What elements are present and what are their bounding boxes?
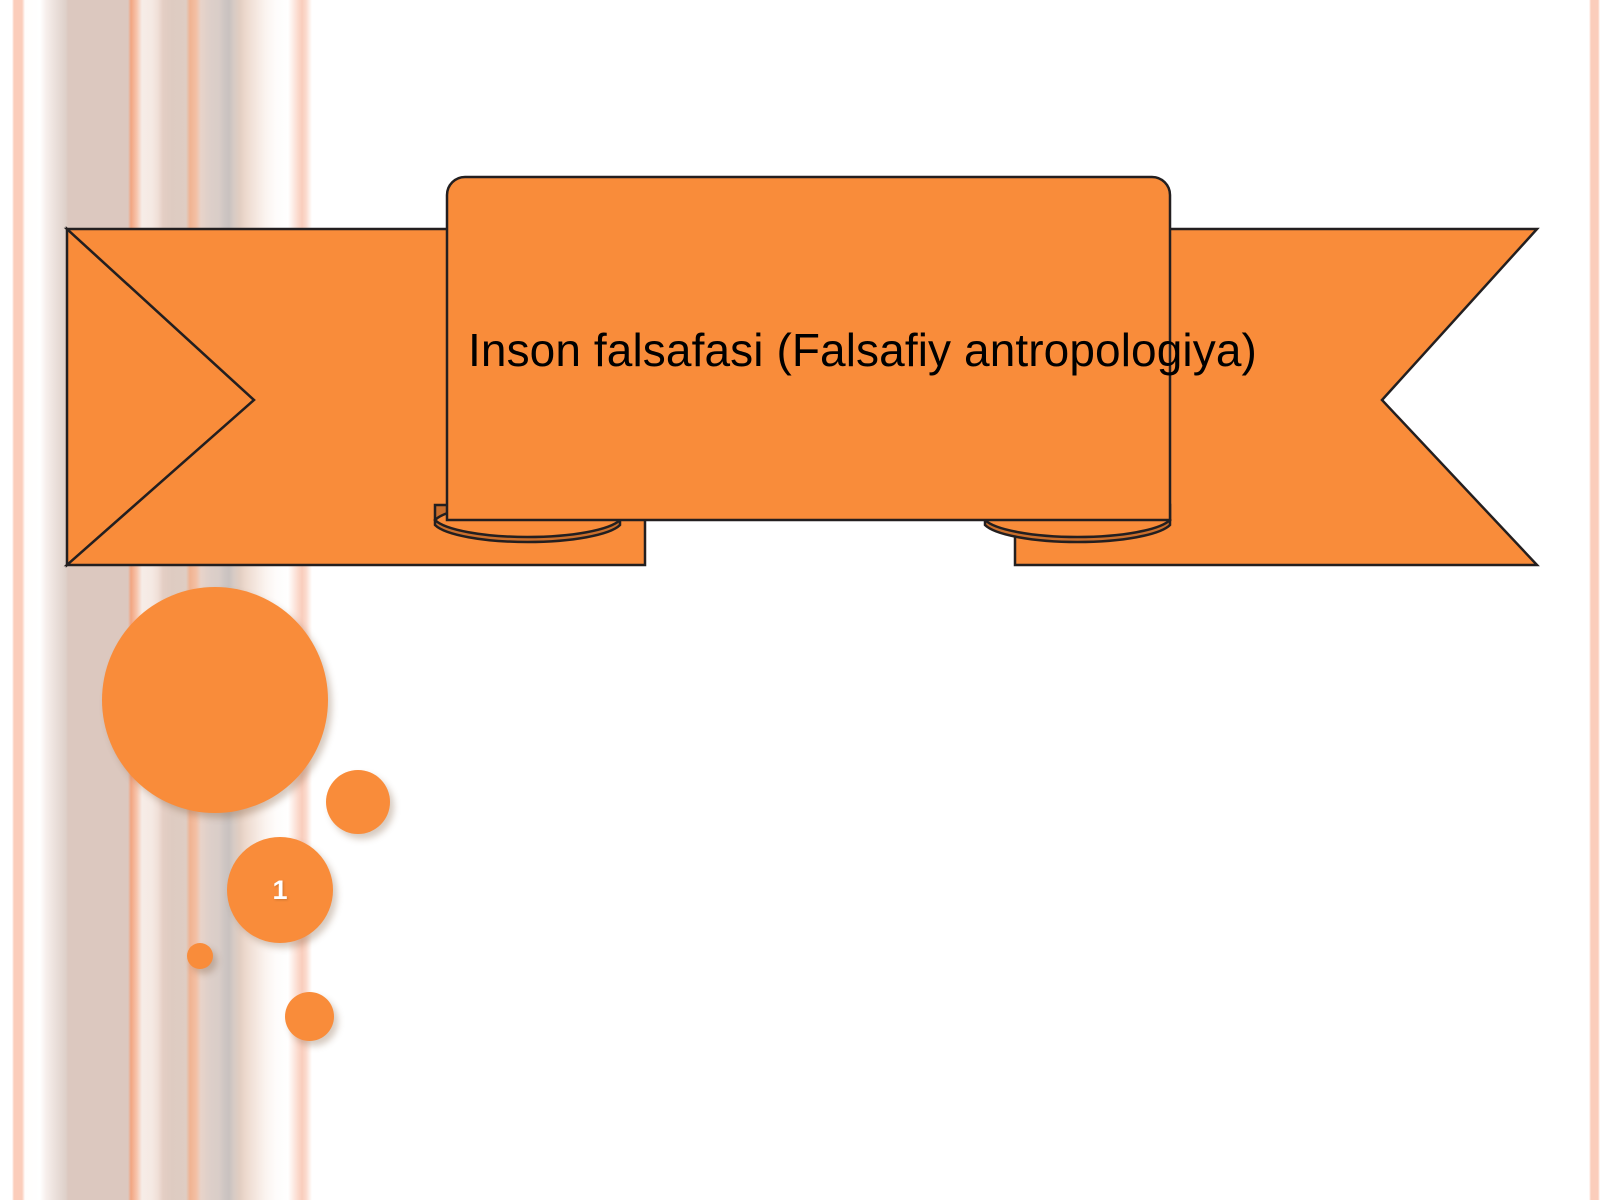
- presentation-slide: Inson falsafasi (Falsafiy antropologiya)…: [0, 0, 1600, 1200]
- decorative-circle-tiny: [187, 943, 213, 969]
- decorative-circle-large: [102, 587, 328, 813]
- decorative-circle-small-b: [285, 992, 334, 1041]
- slide-number-label: 1: [227, 837, 333, 943]
- decorative-circle-small-a: [326, 770, 390, 834]
- slide-title: Inson falsafasi (Falsafiy antropologiya): [468, 325, 1158, 376]
